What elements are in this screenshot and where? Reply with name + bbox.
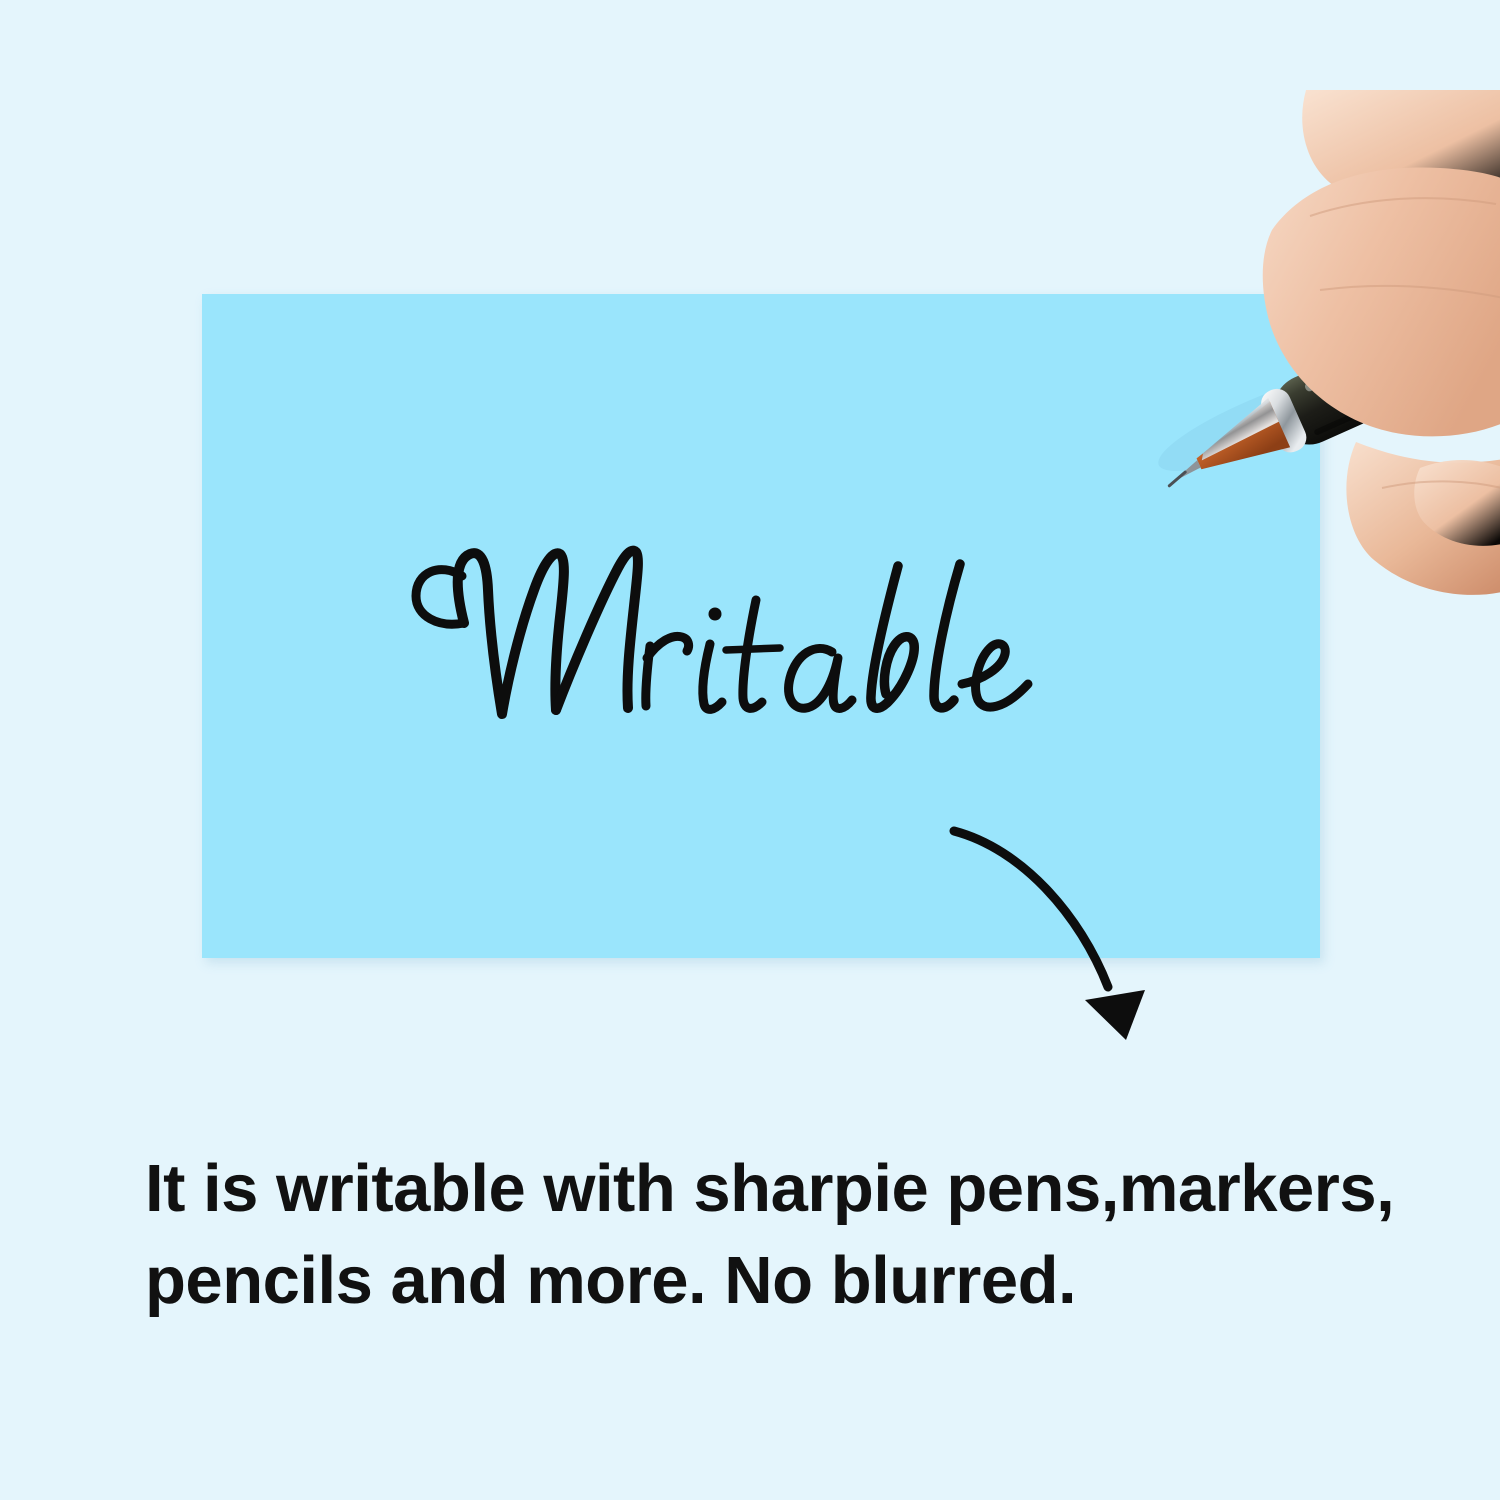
blue-writable-card xyxy=(202,294,1320,958)
finger-tip xyxy=(1414,460,1500,546)
caption-text: It is writable with sharpie pens,markers… xyxy=(145,1143,1475,1327)
thumb xyxy=(1346,442,1500,595)
index-finger xyxy=(1302,90,1500,219)
promo-image-canvas: Writable xyxy=(0,0,1500,1500)
